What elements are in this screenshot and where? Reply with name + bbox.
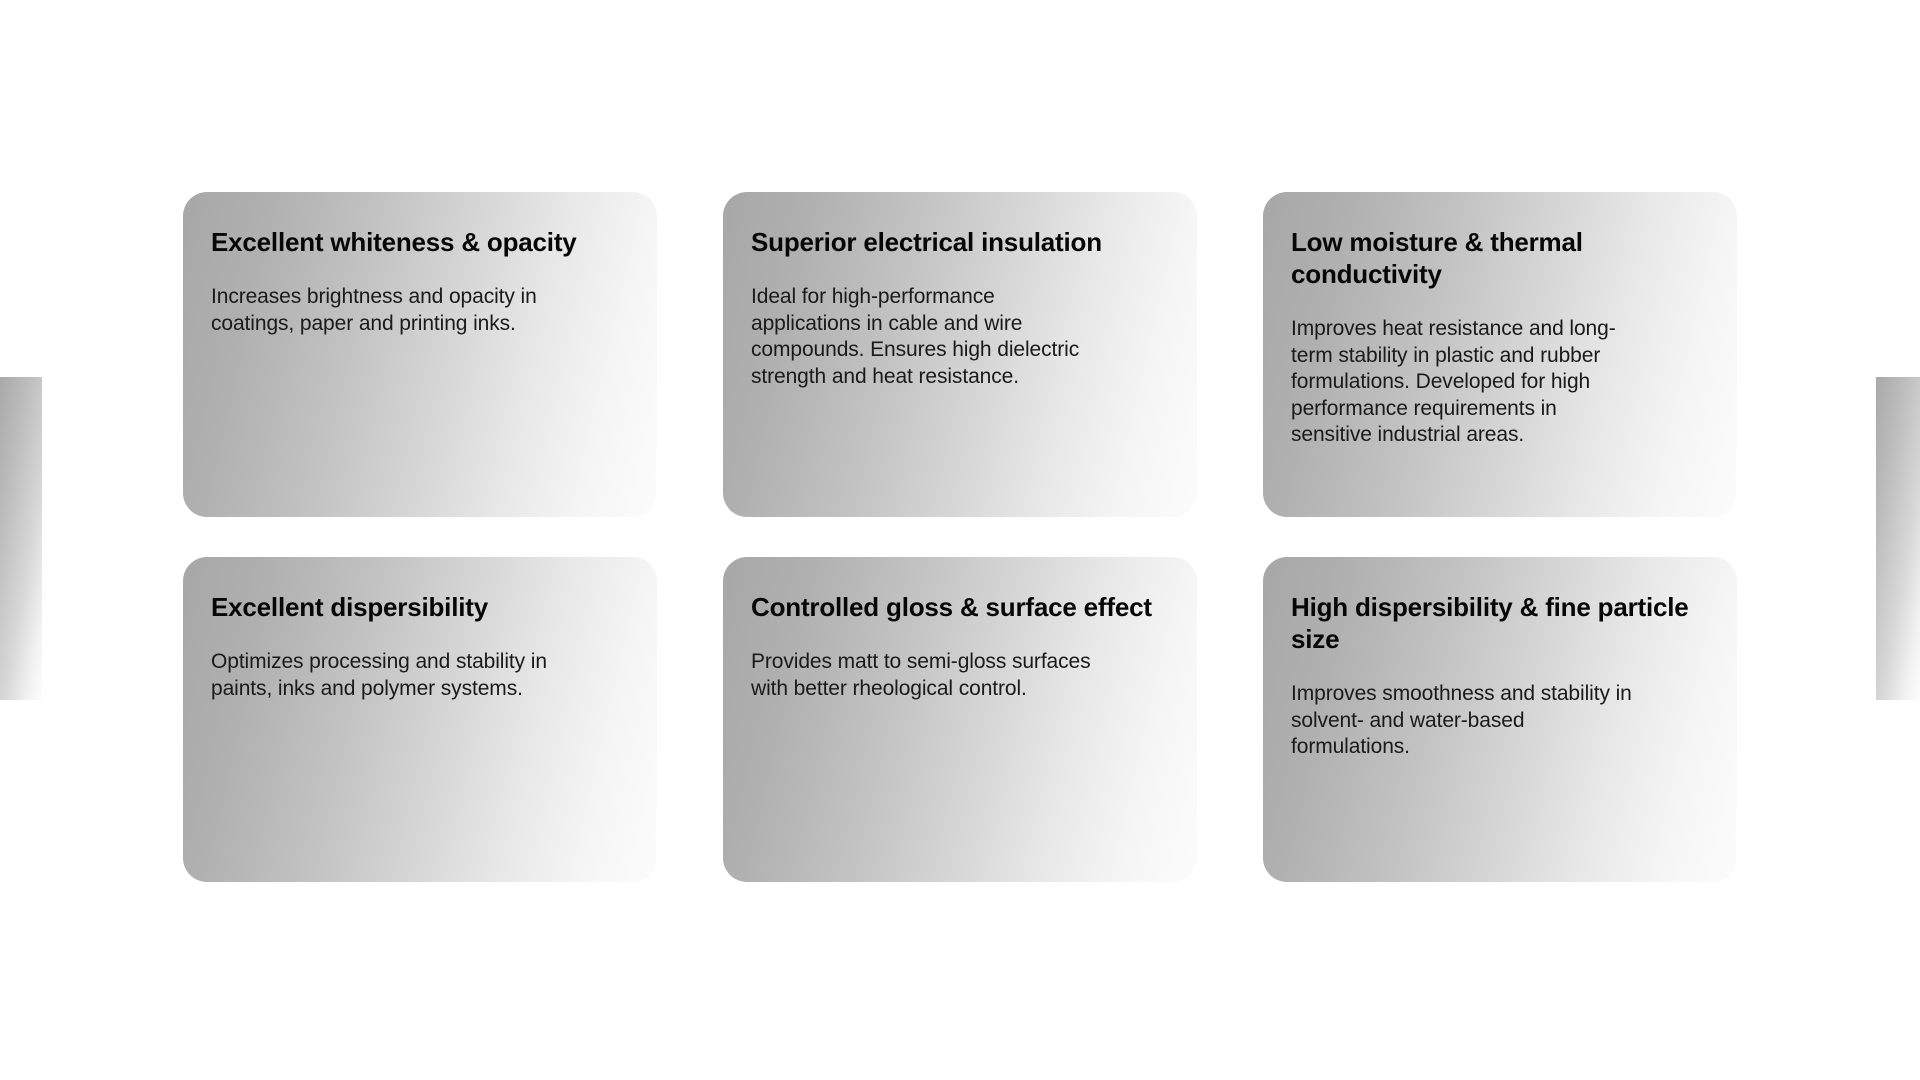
next-card-peek[interactable] [1876,377,1920,700]
benefit-card[interactable]: Superior electrical insulation Ideal for… [723,192,1197,517]
benefit-card[interactable]: Low moisture & thermal conductivity Impr… [1263,192,1737,517]
benefit-card[interactable]: Excellent whiteness & opacity Increases … [183,192,657,517]
benefit-card-title: Superior electrical insulation [751,226,1157,258]
benefit-card-description: Improves heat resistance and long-term s… [1291,290,1643,448]
benefit-card-description: Increases brightness and opacity in coat… [211,258,561,337]
benefit-card-title: Excellent whiteness & opacity [211,226,617,258]
benefit-card-title: Controlled gloss & surface effect [751,591,1157,623]
benefit-card[interactable]: Controlled gloss & surface effect Provid… [723,557,1197,882]
benefit-card-title: Excellent dispersibility [211,591,617,623]
benefits-carousel-viewport[interactable]: Excellent whiteness & opacity Increases … [0,0,1920,1080]
benefit-card[interactable]: Excellent dispersibility Optimizes proce… [183,557,657,882]
benefit-card-grid: Excellent whiteness & opacity Increases … [183,192,1719,882]
benefit-card[interactable]: High dispersibility & fine particle size… [1263,557,1737,882]
benefit-card-title: High dispersibility & fine particle size [1291,591,1697,655]
benefit-card-description: Provides matt to semi-gloss surfaces wit… [751,623,1101,702]
benefit-card-description: Improves smoothness and stability in sol… [1291,655,1643,760]
benefit-card-description: Optimizes processing and stability in pa… [211,623,561,702]
benefit-card-title: Low moisture & thermal conductivity [1291,226,1697,290]
previous-card-peek[interactable] [0,377,42,700]
benefit-card-description: Ideal for high-performance applications … [751,258,1101,390]
